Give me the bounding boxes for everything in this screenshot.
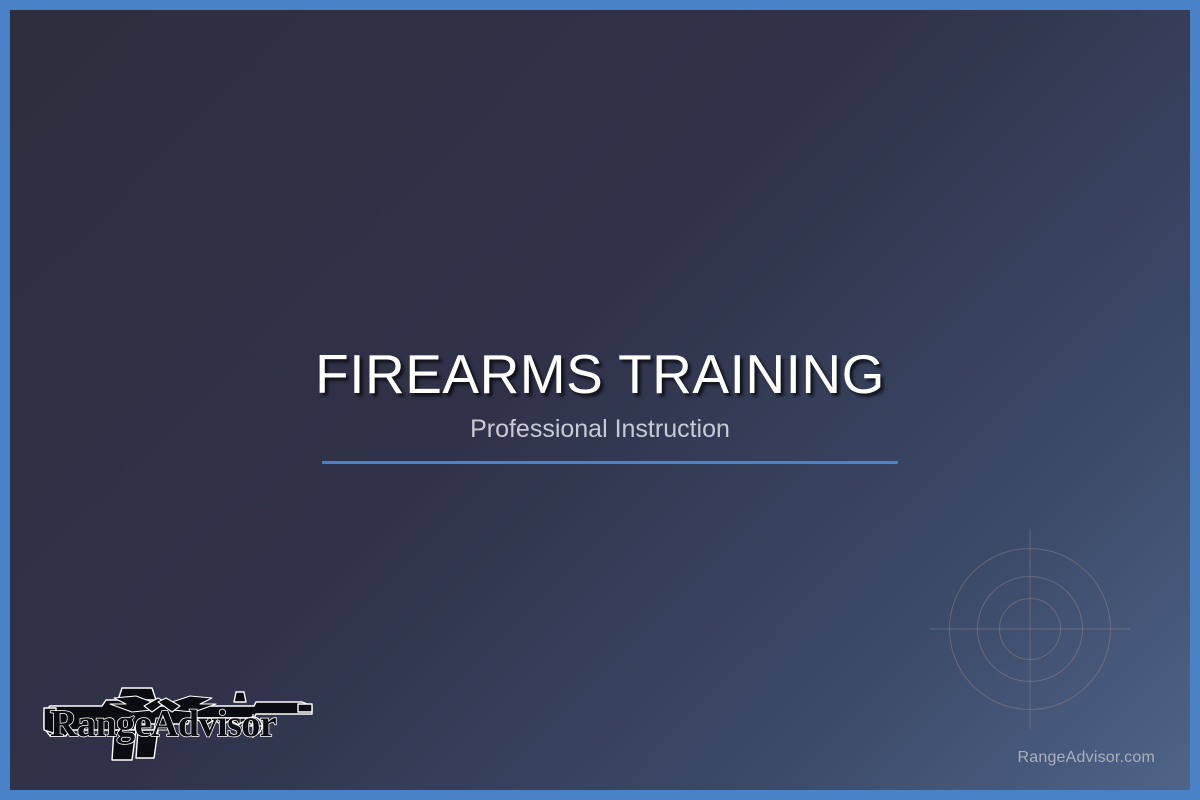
target-ring-outer xyxy=(949,548,1111,710)
title-block: FIREARMS TRAINING Professional Instructi… xyxy=(10,346,1190,444)
slide-title: FIREARMS TRAINING xyxy=(10,346,1190,402)
logo-wordmark-text: RangeAdvisor xyxy=(50,703,277,745)
presentation-slide: FIREARMS TRAINING Professional Instructi… xyxy=(0,0,1200,800)
slide-subtitle: Professional Instruction xyxy=(10,416,1190,444)
rifle-logo-icon: RangeAdvisor xyxy=(40,678,316,764)
crosshair-horizontal-line xyxy=(930,629,1130,630)
crosshair-vertical-line xyxy=(1030,529,1031,729)
crosshair-target-icon xyxy=(930,529,1130,729)
accent-divider-rule xyxy=(322,461,898,464)
target-ring-middle xyxy=(977,576,1083,682)
footer-watermark: RangeAdvisor.com xyxy=(1018,749,1156,767)
rangeadvisor-logo: RangeAdvisor xyxy=(40,678,316,764)
target-ring-inner xyxy=(999,598,1061,660)
